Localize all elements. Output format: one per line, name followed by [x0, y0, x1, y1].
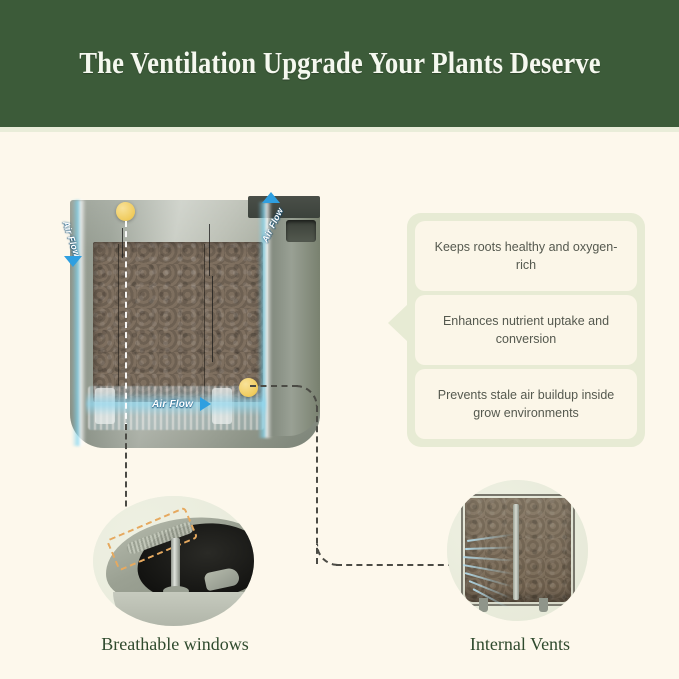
air-flow-bottom-group: Air Flow	[152, 396, 238, 414]
infographic-page: The Ventilation Upgrade Your Plants Dese…	[0, 0, 679, 679]
pot-vent-slot	[286, 220, 316, 242]
arrow-down-icon	[64, 256, 82, 267]
leader-right-segment-1	[250, 385, 298, 387]
inset-breathable-windows	[93, 496, 254, 626]
pot-base-band	[113, 592, 254, 626]
product-illustration: Air Flow Air Flow Air Flow	[62, 188, 334, 451]
caption-breathable-windows: Breathable windows	[60, 634, 290, 655]
air-flow-label: Air Flow	[152, 399, 193, 410]
page-title: The Ventilation Upgrade Your Plants Dese…	[73, 43, 606, 84]
root-needle	[212, 276, 213, 362]
arrow-up-icon	[262, 192, 280, 203]
benefit-card[interactable]: Prevents stale air buildup inside grow e…	[415, 369, 637, 439]
air-flow-label: Air Flow	[61, 220, 82, 258]
benefits-pointer	[388, 304, 408, 342]
benefit-text: Keeps roots healthy and oxygen-rich	[429, 238, 623, 274]
air-flow-label: Air Flow	[260, 206, 285, 244]
header-banner: The Ventilation Upgrade Your Plants Dese…	[0, 0, 679, 127]
arrow-right-icon	[200, 397, 211, 411]
header-divider	[0, 127, 679, 132]
leader-right-segment-3	[336, 564, 454, 566]
soil-seam	[118, 244, 119, 400]
root-needle	[122, 228, 123, 258]
marker-dot-top[interactable]	[116, 202, 135, 221]
root-needle	[209, 224, 210, 276]
marker-dot-bottom[interactable]	[239, 378, 258, 397]
leader-right-corner-2	[316, 544, 338, 566]
leader-right-segment-2	[316, 406, 318, 564]
benefits-panel: Keeps roots healthy and oxygen-rich Enha…	[407, 213, 645, 447]
air-flow-left-group: Air Flow	[60, 210, 94, 280]
benefit-text: Prevents stale air buildup inside grow e…	[429, 386, 623, 422]
air-flow-right-group: Air Flow	[248, 188, 288, 260]
soil-seam	[204, 244, 205, 400]
pot-leg	[479, 598, 488, 612]
center-vent-post	[513, 504, 519, 600]
water-level-probe	[171, 538, 180, 590]
leader-line-vertical	[125, 221, 127, 429]
inset-internal-vents	[447, 480, 588, 621]
caption-internal-vents: Internal Vents	[430, 634, 610, 655]
benefit-text: Enhances nutrient uptake and conversion	[429, 312, 623, 348]
benefit-card[interactable]: Enhances nutrient uptake and conversion	[415, 295, 637, 365]
pot-leg	[539, 598, 548, 612]
benefit-card[interactable]: Keeps roots healthy and oxygen-rich	[415, 221, 637, 291]
